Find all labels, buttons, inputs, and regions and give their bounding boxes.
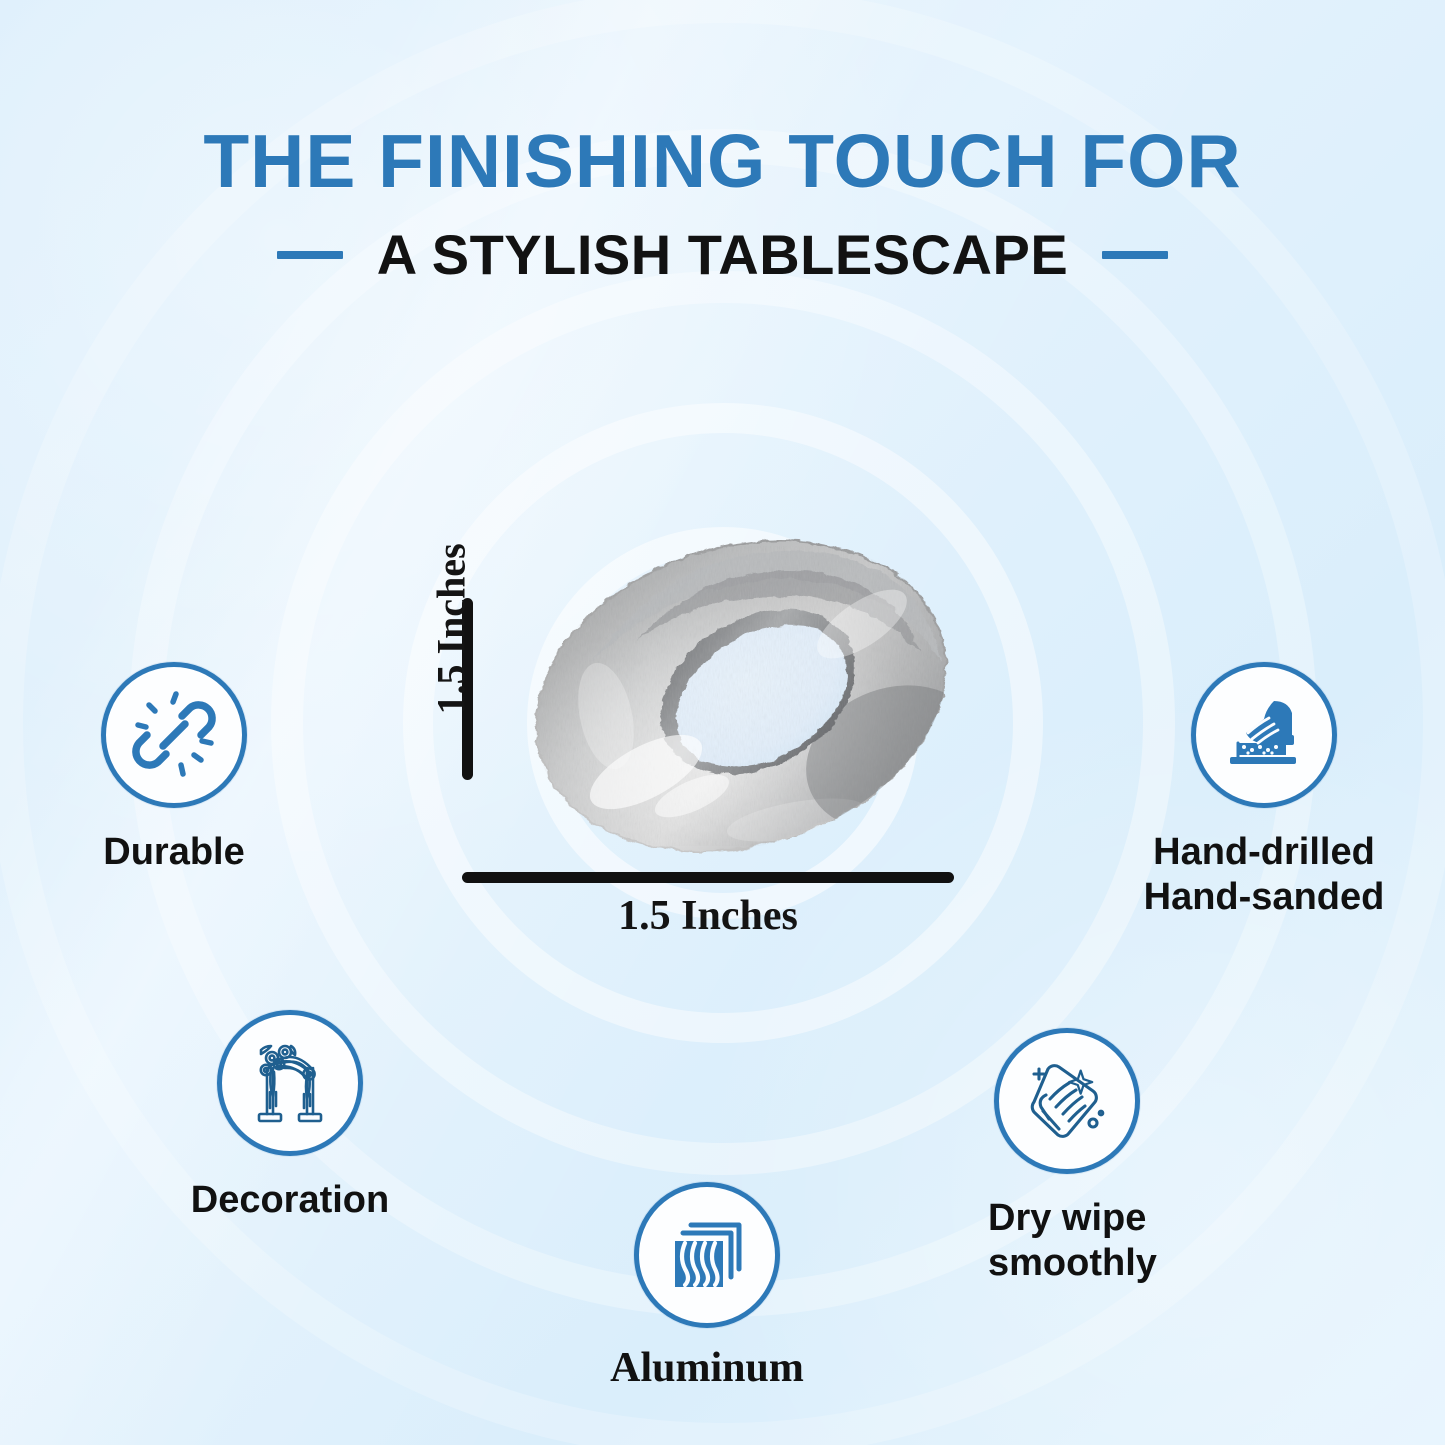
feature-label-decoration: Decoration: [191, 1178, 389, 1223]
dash-right-icon: [1102, 251, 1168, 259]
feature-label-hand-work: Hand-drilled Hand-sanded: [1144, 830, 1385, 920]
product-dimension-block: 1.5 Inches: [410, 520, 1030, 940]
headline-block: THE FINISHING TOUCH FOR A STYLISH TABLES…: [0, 124, 1445, 283]
dimension-height-label: 1.5 Inches: [428, 545, 475, 715]
product-image-napkin-ring: [496, 520, 986, 870]
feature-icon-circle: [634, 1182, 780, 1328]
dimension-horizontal-bar: [462, 872, 954, 883]
feature-aluminum: Aluminum: [572, 1182, 842, 1394]
feature-icon-circle: [1191, 662, 1337, 808]
headline-secondary: A STYLISH TABLESCAPE: [377, 227, 1068, 283]
infographic-canvas: THE FINISHING TOUCH FOR A STYLISH TABLES…: [0, 0, 1445, 1445]
feature-icon-circle: [101, 662, 247, 808]
floral-arch-icon: [241, 1034, 339, 1132]
feature-hand-work: Hand-drilled Hand-sanded: [1114, 662, 1414, 920]
feature-decoration: Decoration: [150, 1010, 430, 1223]
dash-left-icon: [277, 251, 343, 259]
headline-primary: THE FINISHING TOUCH FOR: [0, 124, 1445, 199]
hand-sanding-icon: [1216, 687, 1312, 783]
metal-sheets-icon: [661, 1209, 753, 1301]
dimension-width-label: 1.5 Inches: [462, 892, 954, 940]
feature-label-durable: Durable: [103, 830, 244, 875]
feature-icon-circle: [217, 1010, 363, 1156]
hand-wipe-sparkle-icon: [1019, 1053, 1115, 1149]
feature-durable: Durable: [40, 662, 308, 875]
headline-secondary-row: A STYLISH TABLESCAPE: [0, 227, 1445, 283]
feature-icon-circle: [994, 1028, 1140, 1174]
chain-link-icon: [128, 689, 220, 781]
feature-label-dry-wipe: Dry wipe smoothly: [988, 1196, 1157, 1286]
feature-dry-wipe: Dry wipe smoothly: [950, 1028, 1250, 1286]
feature-label-aluminum: Aluminum: [610, 1344, 804, 1394]
